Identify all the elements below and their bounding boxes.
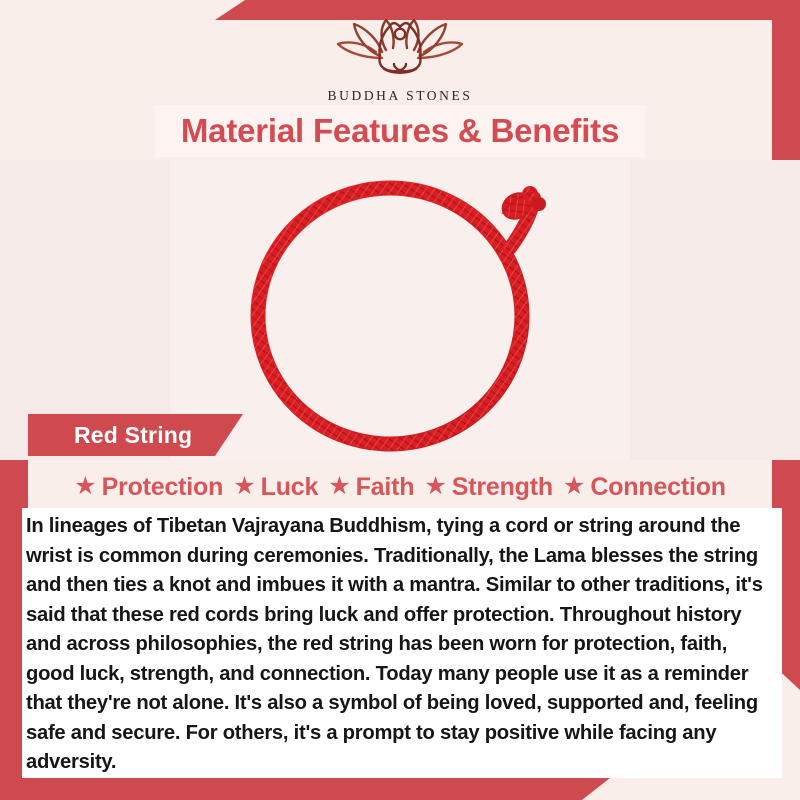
feature-list: ★ Protection ★ Luck ★ Faith ★ Strength ★… (28, 466, 772, 508)
feature-label: Luck (261, 473, 319, 502)
lotus-meditation-icon (320, 14, 480, 86)
description-text: In lineages of Tibetan Vajrayana Buddhis… (26, 512, 778, 778)
feature-item-connection: ★ Connection (559, 473, 730, 502)
poster-canvas: BUDDHA STONES Material Features & Benefi… (0, 0, 800, 800)
star-icon: ★ (74, 474, 96, 499)
product-name-label: Red String (74, 422, 192, 449)
star-icon: ★ (233, 474, 255, 499)
brand-logo: BUDDHA STONES (0, 14, 800, 104)
star-icon: ★ (563, 474, 585, 499)
feature-item-strength: ★ Strength (420, 473, 557, 502)
feature-item-protection: ★ Protection (70, 473, 227, 502)
product-name-ribbon: Red String (28, 414, 243, 456)
feature-label: Connection (590, 473, 726, 502)
decor-bottom-bar (0, 778, 610, 800)
brand-wordmark: BUDDHA STONES (0, 88, 800, 104)
title-band: Material Features & Benefits (155, 105, 645, 157)
star-icon: ★ (328, 474, 350, 499)
feature-label: Faith (356, 473, 415, 502)
feature-label: Strength (452, 473, 553, 502)
feature-label: Protection (102, 473, 224, 502)
feature-item-luck: ★ Luck (229, 473, 322, 502)
description-panel: In lineages of Tibetan Vajrayana Buddhis… (22, 508, 782, 778)
star-icon: ★ (424, 474, 446, 499)
red-string-bracelet-image (240, 168, 570, 453)
feature-item-faith: ★ Faith (324, 473, 418, 502)
page-title: Material Features & Benefits (181, 112, 619, 150)
